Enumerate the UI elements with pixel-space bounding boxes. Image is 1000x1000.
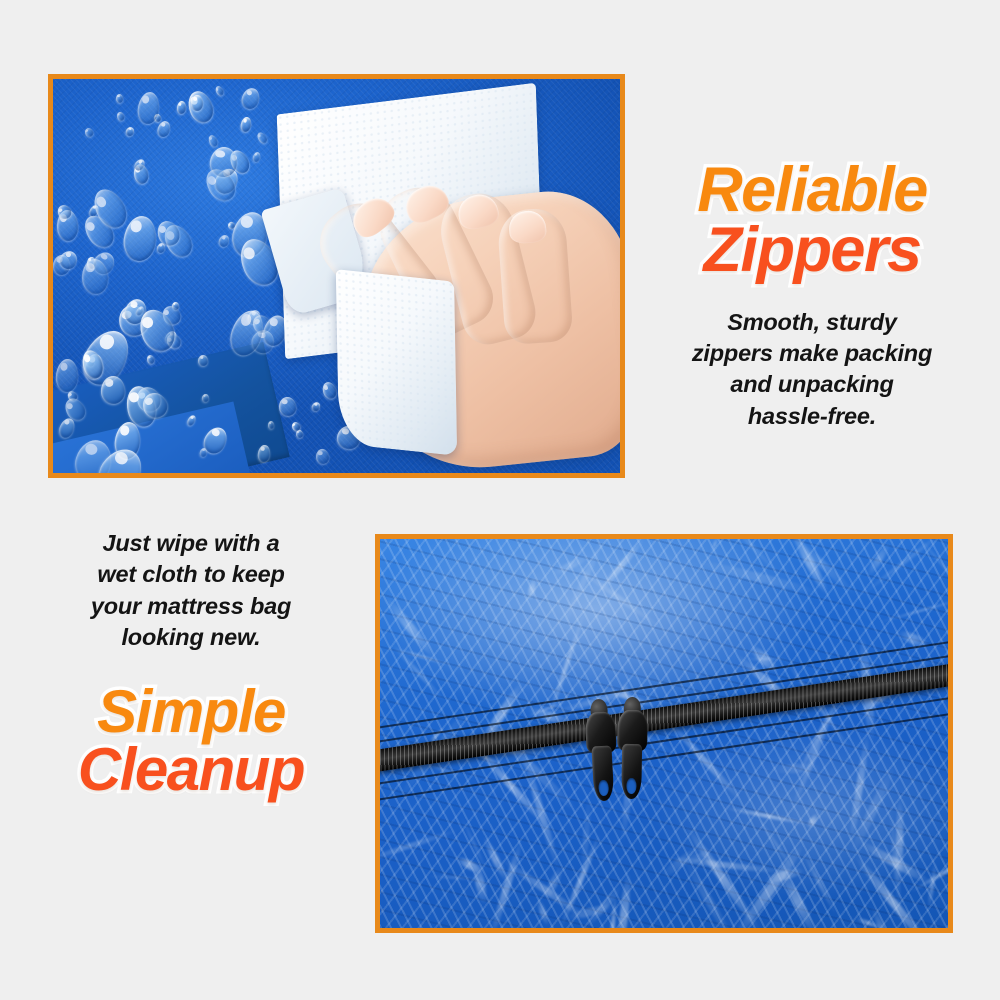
zipper-pull-hole: [598, 780, 608, 796]
zipper-pull-hole: [627, 778, 637, 794]
body-line: Just wipe with a: [26, 528, 356, 559]
zippers-text-block: Reliable Zippers Smooth, sturdy zippers …: [636, 160, 988, 432]
photo-inner: [380, 539, 948, 928]
body-line: your mattress bag: [26, 591, 356, 622]
body-line: Smooth, sturdy: [636, 307, 988, 338]
water-droplet: [295, 430, 302, 438]
cleanup-headline-line2: Cleanup: [26, 741, 356, 799]
cleanup-text-block: Just wipe with a wet cloth to keep your …: [26, 528, 356, 798]
body-line: looking new.: [26, 622, 356, 653]
zippers-headline: Reliable Zippers: [636, 160, 988, 281]
tarp-crinkle: [743, 657, 788, 659]
tarp-crinkle: [895, 798, 902, 885]
ribbon-tan-band: [0, 976, 655, 1000]
body-line: and unpacking: [636, 369, 988, 400]
cleanup-body-copy: Just wipe with a wet cloth to keep your …: [26, 528, 356, 653]
cleanup-headline-line1: Simple: [26, 683, 356, 741]
zippers-body-copy: Smooth, sturdy zippers make packing and …: [636, 307, 988, 432]
wipe-cloth-on-blue-tarp-photo: [48, 74, 625, 478]
cleanup-headline: Simple Cleanup: [26, 683, 356, 798]
ribbon-tan-band: [345, 0, 1000, 24]
body-line: hassle-free.: [636, 401, 988, 432]
body-line: wet cloth to keep: [26, 559, 356, 590]
zipper-closeup-photo: [375, 534, 953, 933]
zipper-pull-tab: [621, 744, 642, 800]
zipper-pull-right: [617, 710, 648, 800]
product-feature-infographic: Reliable Zippers Smooth, sturdy zippers …: [0, 0, 1000, 1000]
zipper-pull-left: [585, 711, 619, 802]
zippers-headline-line1: Reliable: [636, 160, 988, 220]
zipper-pull-tab: [591, 746, 614, 802]
photo-inner: [53, 79, 620, 473]
zippers-headline-line2: Zippers: [636, 220, 988, 280]
cloth-hanging-tail: [335, 269, 456, 456]
body-line: zippers make packing: [636, 338, 988, 369]
